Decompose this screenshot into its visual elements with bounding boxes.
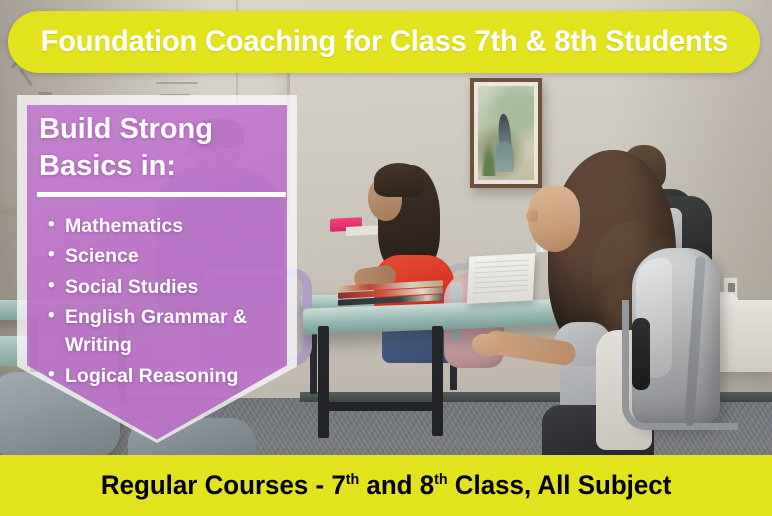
desk-leg (318, 326, 329, 438)
desk-crossbar (322, 402, 434, 411)
footer-prefix: Regular Courses - 7 (101, 470, 346, 500)
list-item: Science (65, 242, 283, 270)
open-notebook (467, 253, 535, 304)
footer-sup-8th: th (434, 472, 447, 488)
chair (622, 300, 738, 430)
desk-leg (432, 326, 443, 436)
header-banner: Foundation Coaching for Class 7th & 8th … (8, 11, 760, 73)
footer-banner-text: Regular Courses - 7th and 8th Class, All… (101, 470, 671, 501)
list-item: Logical Reasoning (65, 362, 283, 390)
person-nose (526, 210, 538, 222)
list-item: Social Studies (65, 273, 283, 301)
card-content: Build Strong Basics in: Mathematics Scie… (39, 111, 283, 392)
subject-list: Mathematics Science Social Studies Engli… (39, 212, 283, 390)
footer-suffix: Class, All Subject (447, 470, 671, 500)
footer-sup-7th: th (346, 472, 359, 488)
card-divider (37, 192, 286, 197)
card-title: Build Strong Basics in: (39, 111, 283, 185)
list-item: English Grammar & Writing (65, 303, 283, 360)
header-banner-text: Foundation Coaching for Class 7th & 8th … (40, 25, 727, 59)
subjects-card: Build Strong Basics in: Mathematics Scie… (17, 95, 297, 443)
promotional-poster: Foundation Coaching for Class 7th & 8th … (0, 0, 772, 516)
list-item: Mathematics (65, 212, 283, 240)
card-title-line-2: Basics in: (39, 148, 283, 185)
footer-middle: and 8 (359, 470, 434, 500)
footer-banner: Regular Courses - 7th and 8th Class, All… (0, 455, 772, 516)
person-hair-front (374, 163, 424, 197)
card-title-line-1: Build Strong (39, 111, 283, 148)
